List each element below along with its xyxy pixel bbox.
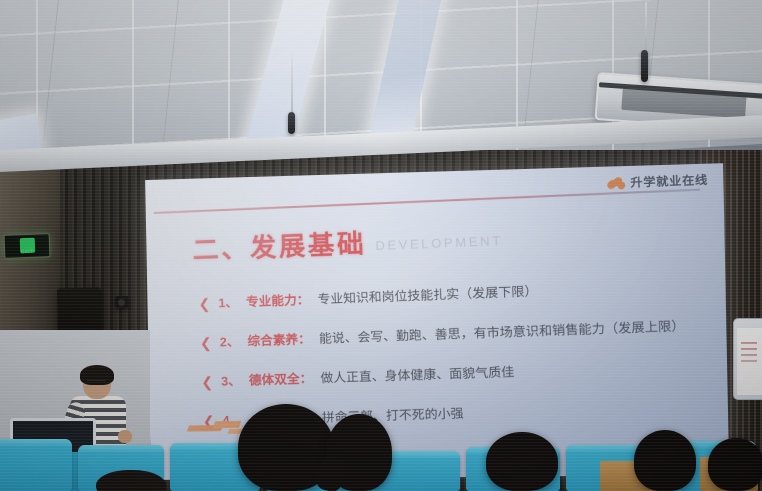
slide-title-cn: 二、发展基础	[192, 230, 366, 263]
exit-sign-label: EXIT	[7, 247, 47, 256]
chevron-left-icon: ❮	[200, 336, 212, 350]
bullet-number: 3、	[221, 370, 241, 390]
bullet-number: 2、	[219, 331, 239, 351]
microphone-cable	[291, 54, 293, 116]
flame-leaf-logo-icon	[607, 175, 626, 191]
audience-head	[634, 430, 696, 491]
slide-title-en: DEVELOPMENT	[375, 234, 503, 256]
hanging-microphone-icon	[641, 50, 648, 82]
audience-head	[486, 432, 558, 491]
wall-camera-icon	[115, 296, 129, 308]
audience-head	[708, 438, 762, 491]
slide-header-divider	[154, 189, 700, 214]
bullet-number: 1、	[218, 291, 238, 311]
side-wall-display-panel	[733, 318, 762, 400]
seat	[0, 439, 72, 491]
bullet-keyword: 综合素养：	[247, 328, 311, 349]
slide-title: 二、发展基础 DEVELOPMENT	[192, 225, 503, 264]
bullet-keyword: 德体双全：	[248, 368, 312, 389]
emergency-exit-sign: EXIT	[4, 233, 51, 259]
list-item: ❮ 1、 专业能力： 专业知识和岗位技能扎实（发展下限）	[198, 274, 705, 312]
slide-logo-text: 升学就业在线	[631, 171, 709, 191]
bullet-keyword: 专业能力：	[246, 289, 310, 311]
list-item: ❮ 2、 综合素养： 能说、会写、勤跑、善思，有市场意识和销售能力（发展上限）	[200, 314, 707, 351]
presenter-glasses-icon	[87, 380, 106, 386]
lecture-hall-photo: EXIT 升学就业在线 二、发展基础 DEVELOPMENT ❮ 1、 专业能力…	[0, 0, 762, 491]
hanging-microphone-icon	[288, 112, 295, 134]
bullet-text: 能说、会写、勤跑、善思，有市场意识和销售能力（发展上限）	[319, 315, 685, 347]
bullet-text: 专业知识和岗位技能扎实（发展下限）	[317, 280, 538, 308]
chevron-left-icon: ❮	[198, 297, 210, 311]
bullet-text: 做人正直、身体健康、面貌气质佳	[320, 361, 514, 387]
side-panel-screen	[737, 328, 762, 395]
chevron-left-icon: ❮	[201, 375, 213, 389]
list-item: ❮ 3、 德体双全： 做人正直、身体健康、面貌气质佳	[201, 354, 708, 390]
microphone-cable	[645, 2, 647, 56]
